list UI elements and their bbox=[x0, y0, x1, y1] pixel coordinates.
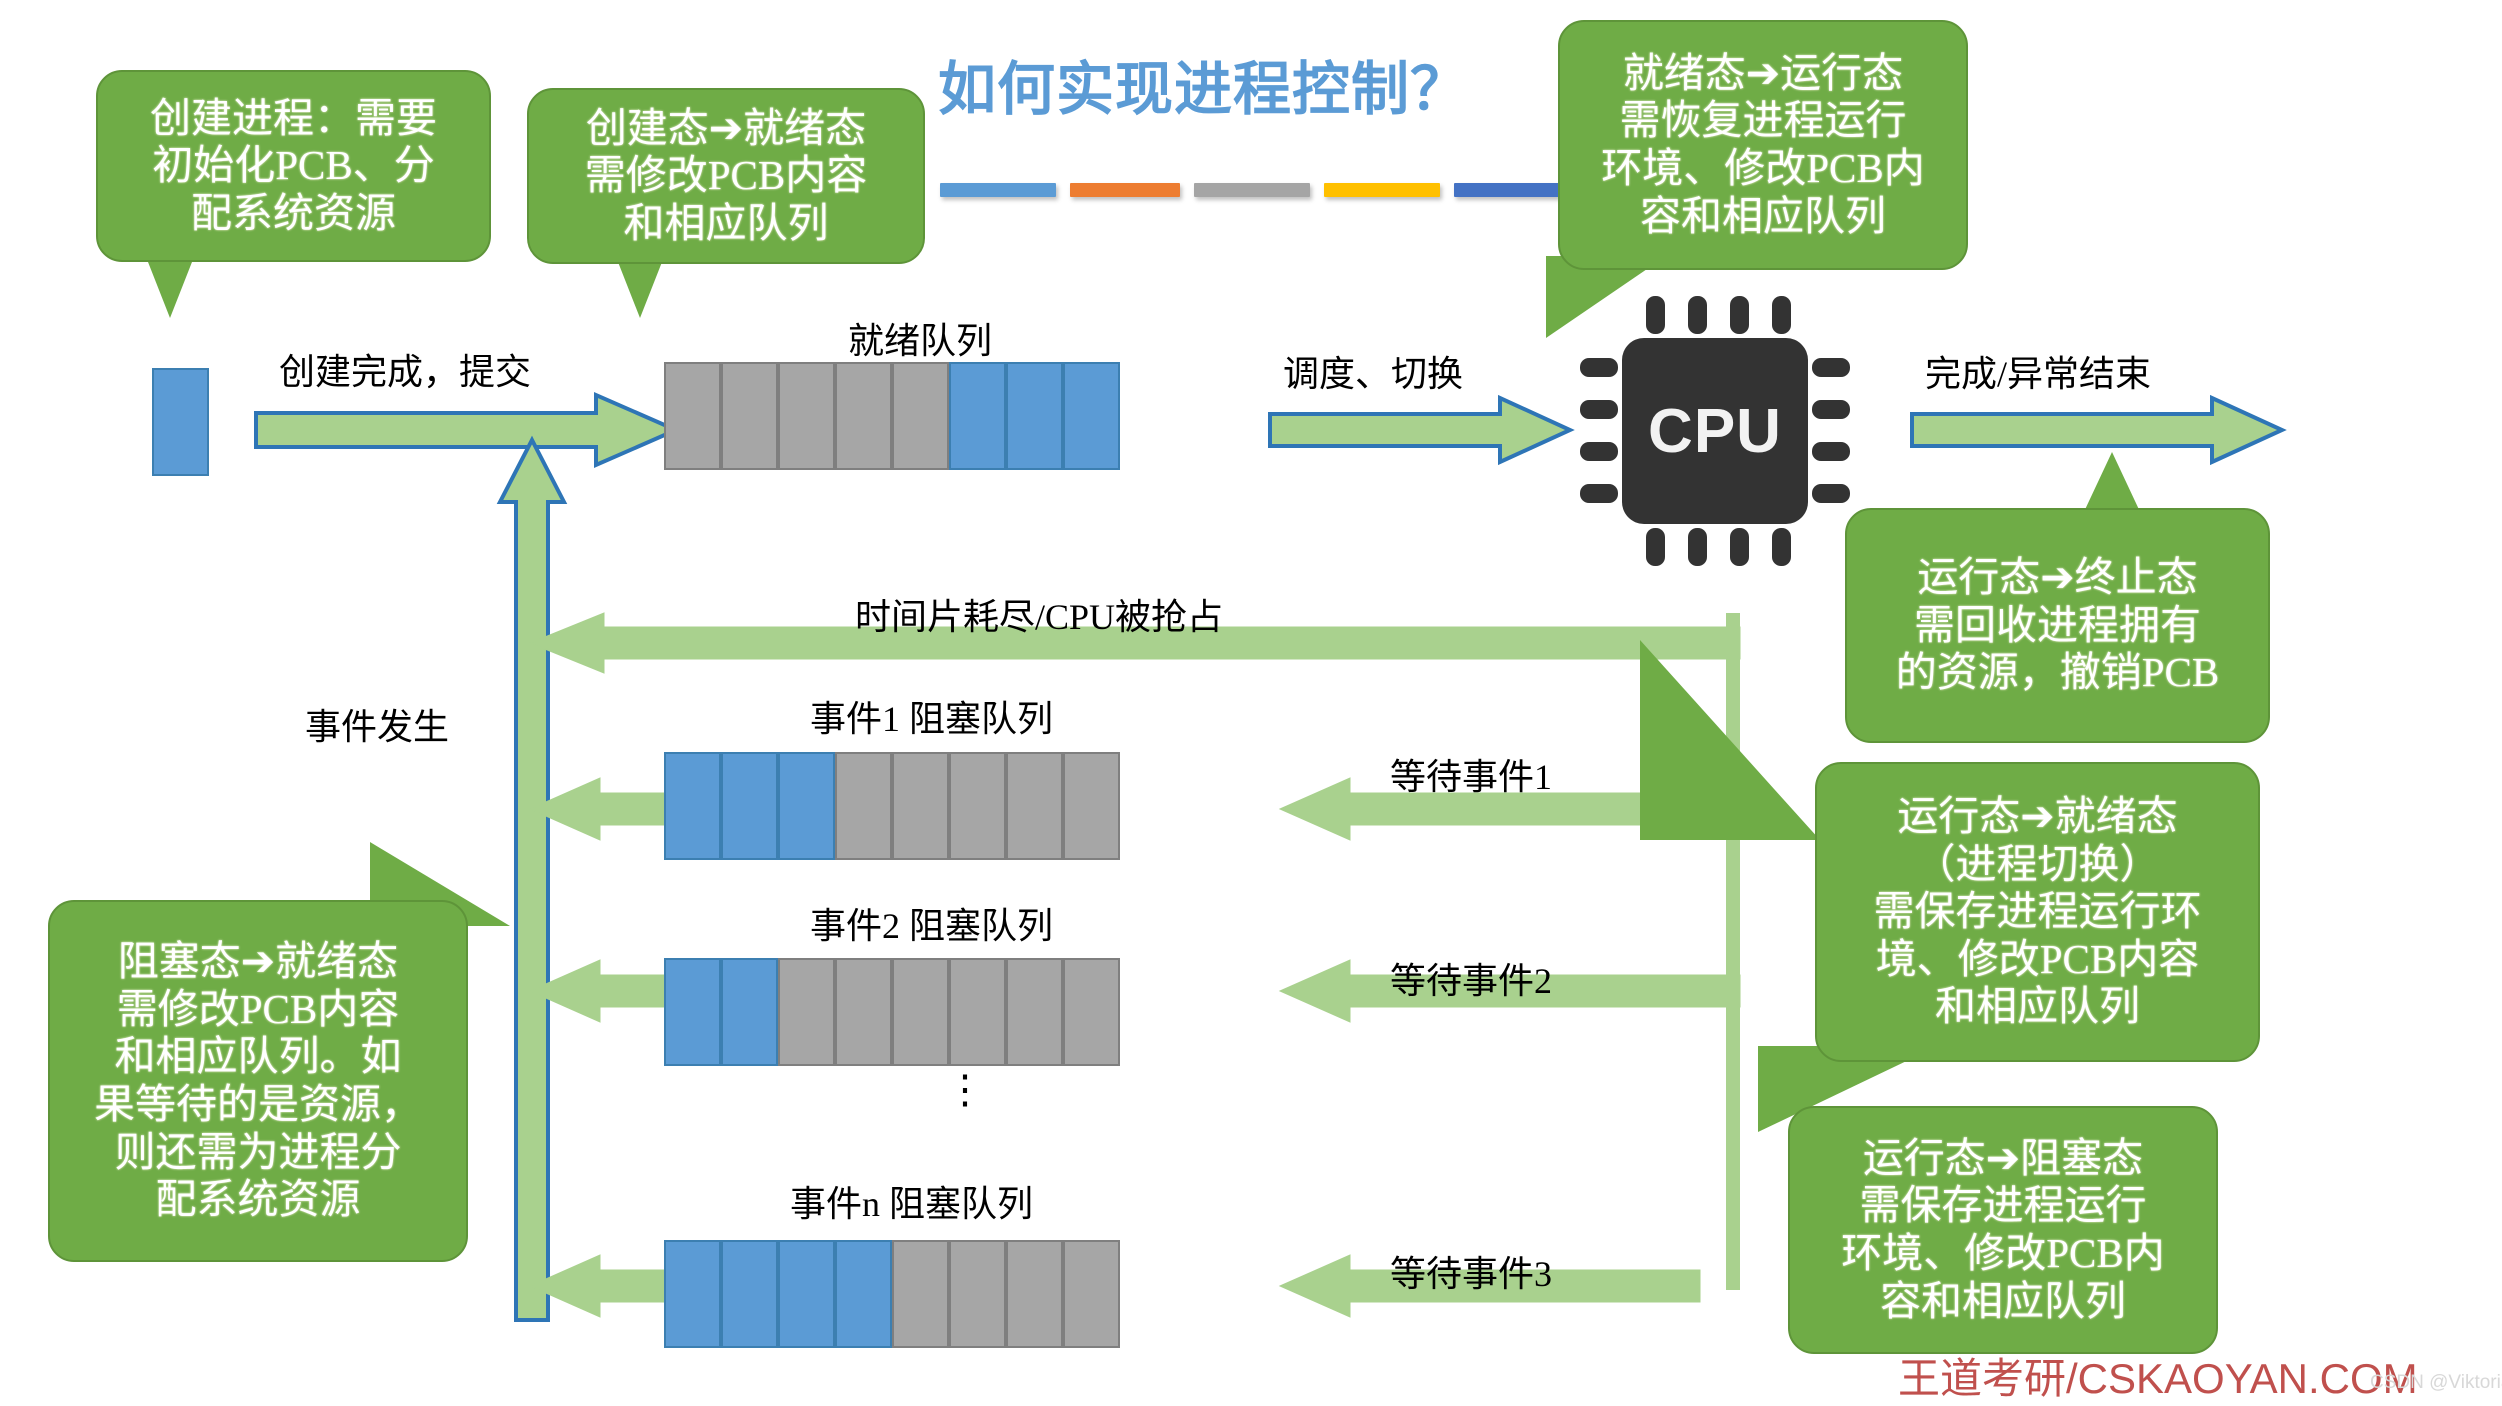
process-cell bbox=[721, 752, 778, 860]
process-cell bbox=[949, 1240, 1006, 1348]
process-cell bbox=[949, 752, 1006, 860]
segment-gray bbox=[1194, 183, 1310, 197]
process-cell bbox=[721, 1240, 778, 1348]
callout-tail-run-to-ready bbox=[1640, 640, 1820, 840]
process-cell bbox=[664, 362, 721, 470]
cpu-pin-left bbox=[1580, 400, 1618, 419]
label-wait-event-2: 等待事件2 bbox=[1390, 952, 1552, 1004]
process-cell bbox=[892, 362, 949, 470]
process-cell bbox=[892, 958, 949, 1066]
process-cell bbox=[1006, 958, 1063, 1066]
arrow-schedule-switch bbox=[1270, 398, 1570, 462]
process-cell bbox=[721, 958, 778, 1066]
process-cell bbox=[892, 1240, 949, 1348]
label-finish-or-abort: 完成/异常结束 bbox=[1925, 345, 2151, 397]
callout-run-to-ready: 运行态➔就绪态 （进程切换） 需保存进程运行环 境、修改PCB内容 和相应队列 bbox=[1815, 762, 2260, 1062]
callout-tail-create-to-ready bbox=[618, 262, 662, 318]
cpu-pin-bottom bbox=[1646, 528, 1665, 566]
callout-run-to-block-text: 运行态➔阻塞态 需保存进程运行 环境、修改PCB内 容和相应队列 bbox=[1829, 1135, 2177, 1325]
block-queue-2-label: 事件2 阻塞队列 bbox=[810, 897, 1053, 949]
process-cell bbox=[1006, 1240, 1063, 1348]
arrow-event-occurs-2 bbox=[530, 960, 670, 1022]
process-cell bbox=[778, 362, 835, 470]
cpu-chip: CPU bbox=[1570, 318, 1860, 548]
vertical-ellipsis: ⋮ bbox=[945, 1080, 985, 1100]
label-timeslice-preempt: 时间片耗尽/CPU被抢占 bbox=[855, 588, 1223, 640]
process-cell bbox=[835, 958, 892, 1066]
process-cell bbox=[664, 958, 721, 1066]
cpu-pin-left bbox=[1580, 484, 1618, 503]
callout-ready-to-run-text: 就绪态➔运行态 需恢复进程运行 环境、修改PCB内 容和相应队列 bbox=[1589, 50, 1937, 240]
callout-tail-run-to-terminate bbox=[2082, 452, 2142, 516]
process-cell bbox=[778, 752, 835, 860]
cpu-pin-bottom bbox=[1688, 528, 1707, 566]
process-cell bbox=[721, 362, 778, 470]
process-cell bbox=[664, 752, 721, 860]
callout-run-to-block: 运行态➔阻塞态 需保存进程运行 环境、修改PCB内 容和相应队列 bbox=[1788, 1106, 2218, 1354]
arrow-event-occurs-n bbox=[530, 1255, 670, 1317]
block-queue-1 bbox=[664, 752, 1120, 860]
arrow-create-done-submit bbox=[256, 395, 676, 465]
cpu-pin-left bbox=[1580, 358, 1618, 377]
label-wait-event-1: 等待事件1 bbox=[1390, 748, 1552, 800]
callout-block-to-ready: 阻塞态➔就绪态 需修改PCB内容 和相应队列。如 果等待的是资源， 则还需为进程… bbox=[48, 900, 468, 1262]
process-cell bbox=[835, 752, 892, 860]
label-schedule-switch: 调度、切换 bbox=[1283, 345, 1463, 397]
cpu-label: CPU bbox=[1622, 396, 1808, 467]
cpu-pin-top bbox=[1688, 296, 1707, 334]
cpu-pin-bottom bbox=[1730, 528, 1749, 566]
callout-run-to-terminate-text: 运行态➔终止态 需回收进程拥有 的资源，撤销PCB bbox=[1884, 554, 2232, 697]
process-cell bbox=[1063, 362, 1120, 470]
block-queue-2 bbox=[664, 958, 1120, 1066]
diagram-canvas: 如何实现进程控制？ bbox=[0, 0, 2502, 1400]
block-queue-1-label: 事件1 阻塞队列 bbox=[810, 690, 1053, 742]
title-color-bar bbox=[940, 183, 1632, 197]
ready-queue-label: 就绪队列 bbox=[848, 312, 992, 364]
watermark-brand: 王道考研/CSKAOYAN.COM bbox=[1898, 1345, 2418, 1406]
callout-create-to-ready: 创建态➔就绪态 需修改PCB内容 和相应队列 bbox=[527, 88, 925, 264]
cpu-pin-left bbox=[1580, 442, 1618, 461]
process-cell bbox=[1063, 958, 1120, 1066]
label-event-occurs: 事件发生 bbox=[305, 698, 449, 750]
callout-run-to-ready-text: 运行态➔就绪态 （进程切换） 需保存进程运行环 境、修改PCB内容 和相应队列 bbox=[1862, 793, 2214, 1031]
cpu-pin-right bbox=[1812, 484, 1850, 503]
callout-create-process-text: 创建进程：需要 初始化PCB、分 配系统资源 bbox=[138, 95, 449, 238]
callout-tail-create-process bbox=[148, 262, 192, 318]
process-cell bbox=[835, 362, 892, 470]
process-cell bbox=[1063, 1240, 1120, 1348]
label-create-done-submit: 创建完成，提交 bbox=[279, 343, 531, 395]
process-cell bbox=[1006, 362, 1063, 470]
callout-create-to-ready-text: 创建态➔就绪态 需修改PCB内容 和相应队列 bbox=[573, 105, 880, 248]
timeslice-trunk-riser bbox=[1726, 613, 1740, 643]
callout-run-to-terminate: 运行态➔终止态 需回收进程拥有 的资源，撤销PCB bbox=[1845, 508, 2270, 743]
process-cell bbox=[892, 752, 949, 860]
process-cell bbox=[835, 1240, 892, 1348]
callout-ready-to-run: 就绪态➔运行态 需恢复进程运行 环境、修改PCB内 容和相应队列 bbox=[1558, 20, 1968, 270]
cpu-pin-right bbox=[1812, 442, 1850, 461]
cpu-pin-bottom bbox=[1772, 528, 1791, 566]
process-cell bbox=[152, 368, 209, 476]
watermark-credit: CSDN @Viktoriae bbox=[2370, 1372, 2502, 1394]
process-cell bbox=[949, 958, 1006, 1066]
segment-blue bbox=[940, 183, 1056, 197]
segment-navy bbox=[1454, 183, 1570, 197]
block-queue-n-label: 事件n 阻塞队列 bbox=[790, 1175, 1033, 1227]
callout-block-to-ready-text: 阻塞态➔就绪态 需修改PCB内容 和相应队列。如 果等待的是资源， 则还需为进程… bbox=[82, 938, 434, 1223]
process-cell bbox=[949, 362, 1006, 470]
process-cell bbox=[778, 958, 835, 1066]
process-cell bbox=[664, 1240, 721, 1348]
cpu-pin-right bbox=[1812, 400, 1850, 419]
segment-orange bbox=[1070, 183, 1180, 197]
process-cell bbox=[1006, 752, 1063, 860]
cpu-pin-right bbox=[1812, 358, 1850, 377]
process-cell bbox=[778, 1240, 835, 1348]
segment-yellow bbox=[1324, 183, 1440, 197]
page-title: 如何实现进程控制？ bbox=[938, 42, 1469, 126]
ready-queue bbox=[664, 362, 1120, 470]
callout-create-process: 创建进程：需要 初始化PCB、分 配系统资源 bbox=[96, 70, 491, 262]
cpu-pin-top bbox=[1730, 296, 1749, 334]
label-wait-event-3: 等待事件3 bbox=[1390, 1245, 1552, 1297]
arrow-event-occurs-1 bbox=[530, 778, 670, 840]
cpu-pin-top bbox=[1772, 296, 1791, 334]
process-cell bbox=[1063, 752, 1120, 860]
block-queue-n bbox=[664, 1240, 1120, 1348]
new-process-block bbox=[152, 368, 209, 476]
